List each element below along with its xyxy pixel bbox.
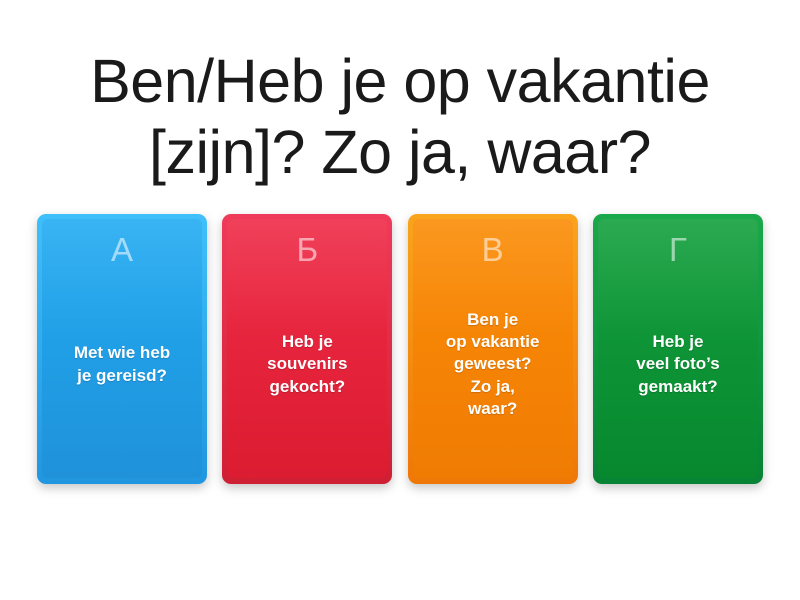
answer-card-c-text: Ben je op vakantie geweest? Zo ja, waar?: [422, 309, 564, 419]
answer-card-c-letter: В: [482, 233, 504, 266]
answer-card-b-text-wrap: Heb je souvenirs gekocht?: [227, 266, 387, 478]
answer-card-d-text: Heb je veel foto’s gemaakt?: [607, 331, 749, 397]
answer-card-d[interactable]: Г Heb je veel foto’s gemaakt?: [593, 214, 763, 484]
answer-card-b[interactable]: Б Heb je souvenirs gekocht?: [222, 214, 392, 484]
question-block: Ben/Heb je op vakantie [zijn]? Zo ja, wa…: [20, 46, 780, 188]
answer-card-d-face: Г Heb je veel foto’s gemaakt?: [598, 219, 758, 478]
answer-card-d-text-wrap: Heb je veel foto’s gemaakt?: [598, 266, 758, 478]
quiz-slide: Ben/Heb je op vakantie [zijn]? Zo ja, wa…: [0, 0, 800, 600]
answer-card-a-text-wrap: Met wie heb je gereisd?: [42, 266, 202, 478]
answer-card-c[interactable]: В Ben je op vakantie geweest? Zo ja, waa…: [408, 214, 578, 484]
answer-card-a-face: A Met wie heb je gereisd?: [42, 219, 202, 478]
answer-card-b-letter: Б: [297, 233, 319, 266]
answer-card-b-face: Б Heb je souvenirs gekocht?: [227, 219, 387, 478]
question-title: Ben/Heb je op vakantie [zijn]? Zo ja, wa…: [20, 46, 780, 188]
answer-options-row: A Met wie heb je gereisd? Б Heb je souve…: [37, 214, 763, 484]
answer-card-d-letter: Г: [669, 233, 687, 266]
answer-card-a-letter: A: [111, 233, 133, 266]
answer-card-a[interactable]: A Met wie heb je gereisd?: [37, 214, 207, 484]
answer-card-b-text: Heb je souvenirs gekocht?: [236, 331, 378, 397]
answer-card-a-text: Met wie heb je gereisd?: [51, 342, 193, 386]
answer-card-c-face: В Ben je op vakantie geweest? Zo ja, waa…: [413, 219, 573, 478]
answer-card-c-text-wrap: Ben je op vakantie geweest? Zo ja, waar?: [413, 266, 573, 478]
